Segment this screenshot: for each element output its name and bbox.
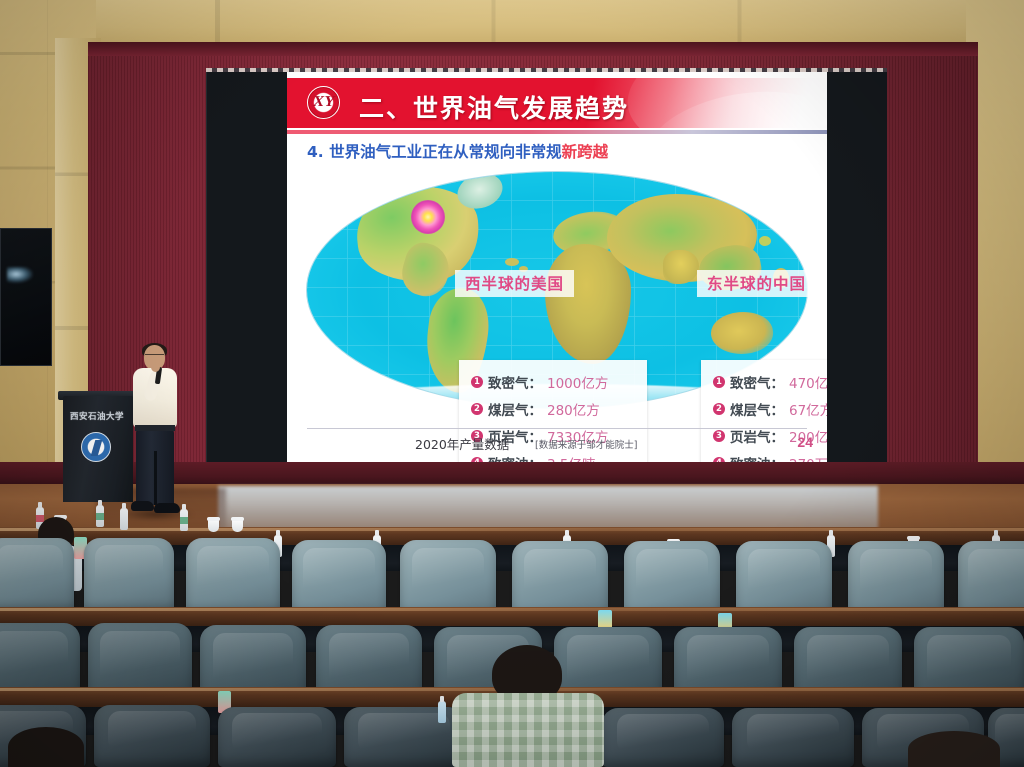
slide-title: 二、世界油气发展趋势: [359, 89, 629, 125]
slide-header-bar: XY 二、世界油气发展趋势: [287, 78, 827, 128]
lecture-hall-scene: XY 二、世界油气发展趋势 4. 世界油气工业正在从常规向非常规新跨越: [0, 0, 1024, 767]
row-bullet-2: 2: [471, 403, 483, 415]
row-value: 67亿方: [789, 399, 827, 419]
seat[interactable]: [218, 707, 336, 767]
slide-footer-note: 2020年产量数据: [415, 434, 509, 453]
row-bullet-1: 1: [713, 376, 725, 388]
slide-subtitle: 4. 世界油气工业正在从常规向非常规新跨越: [307, 140, 608, 162]
data-row: 2 煤层气： 280亿方: [471, 395, 635, 422]
attendee-head: [8, 727, 84, 767]
row-value: 280亿方: [547, 399, 600, 419]
emblem-mark: XY: [311, 95, 336, 110]
presenter-glasses-icon: [145, 354, 164, 358]
slide-subtitle-main: 4. 世界油气工业正在从常规向非常规: [307, 143, 562, 161]
usa-hotspot-marker-icon: [411, 200, 445, 234]
presenter: [127, 345, 183, 525]
row-bullet-2: 2: [713, 403, 725, 415]
stage-backdrop-top-trim: [88, 42, 978, 56]
water-bottle: [120, 508, 128, 530]
world-map: 西半球的美国 东半球的中国 1 致密气： 1000亿方 2 煤层气： 280亿方…: [299, 168, 815, 416]
row-value: 1000亿方: [547, 372, 608, 392]
region-label-west: 西半球的美国: [455, 270, 574, 297]
seat[interactable]: [958, 541, 1024, 617]
seat[interactable]: [344, 707, 464, 767]
wall-monitor: [0, 228, 52, 366]
water-bottle: [180, 509, 188, 531]
seat[interactable]: [0, 538, 74, 612]
paper-cup: [232, 519, 243, 532]
projection-screen: XY 二、世界油气发展趋势 4. 世界油气工业正在从常规向非常规新跨越: [207, 72, 887, 464]
monitor-glare: [7, 267, 33, 283]
seat[interactable]: [602, 708, 724, 767]
data-row: 2 煤层气： 67亿方: [713, 395, 827, 422]
slide-page-number: 24: [797, 434, 813, 450]
row-bullet-3: 3: [713, 430, 725, 442]
row-label: 致密气：: [488, 372, 542, 392]
seat[interactable]: [512, 541, 608, 617]
paper-cup: [208, 519, 219, 532]
seat[interactable]: [400, 540, 496, 616]
presenter-leg-split: [154, 451, 157, 505]
landmass-island-2: [759, 236, 771, 246]
podium: 西安石油大学: [63, 396, 133, 502]
presenter-hand: [151, 362, 160, 372]
podium-logo-icon: [81, 432, 111, 462]
row-value: 470亿方: [789, 372, 827, 392]
university-emblem-icon: XY: [307, 86, 340, 119]
data-row: 1 致密气： 1000亿方: [471, 368, 635, 395]
row-label: 煤层气：: [730, 399, 784, 419]
seat[interactable]: [624, 541, 720, 617]
seat[interactable]: [292, 540, 386, 616]
seat[interactable]: [186, 538, 280, 614]
landmass-island-3: [505, 258, 519, 266]
water-bottle: [438, 701, 446, 723]
seat[interactable]: [736, 541, 832, 617]
water-bottle: [96, 505, 104, 527]
audience-seating: [0, 505, 1024, 767]
row-label: 致密气：: [730, 372, 784, 392]
presenter-belt: [135, 425, 175, 431]
slide-subtitle-highlight: 新跨越: [562, 143, 609, 161]
seat[interactable]: [84, 538, 174, 612]
slide-footer-divider: [307, 428, 807, 429]
podium-university-name: 西安石油大学: [70, 410, 124, 422]
presentation-slide: XY 二、世界油气发展趋势 4. 世界油气工业正在从常规向非常规新跨越: [287, 72, 827, 464]
row-label: 煤层气：: [488, 399, 542, 419]
ceiling-wall-panel: [0, 0, 1024, 46]
seat[interactable]: [732, 708, 854, 767]
attendee-head: [908, 731, 1000, 767]
row-bullet-1: 1: [471, 376, 483, 388]
region-label-east: 东半球的中国: [697, 270, 816, 297]
slide-footer-source: [数据来源于邹才能院士]: [535, 437, 637, 451]
slide-title-underline: [287, 130, 827, 134]
seat[interactable]: [848, 541, 944, 617]
seat[interactable]: [94, 705, 210, 767]
data-row: 1 致密气： 470亿方: [713, 368, 827, 395]
attendee-body: [452, 693, 604, 767]
